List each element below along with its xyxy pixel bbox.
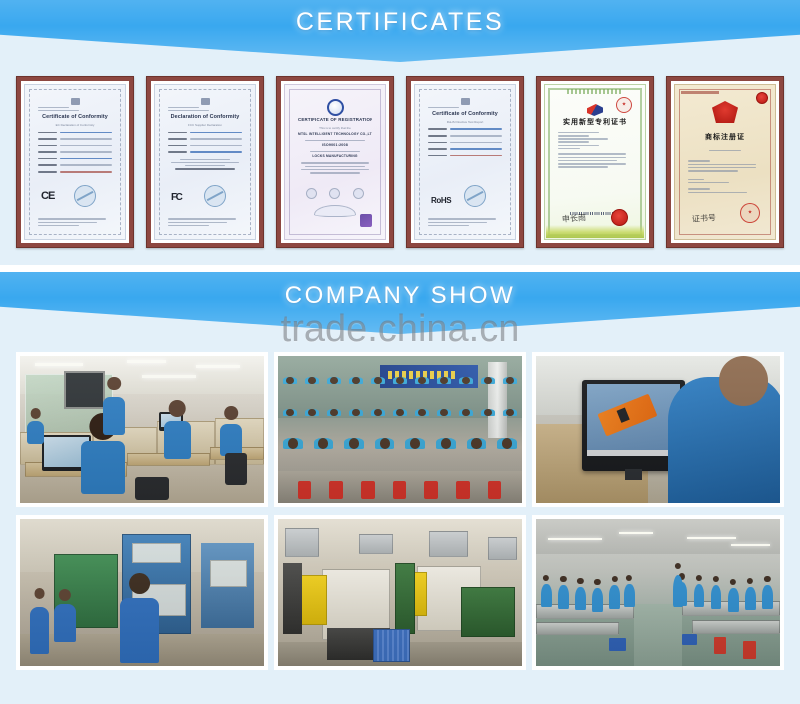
certificate-card-1[interactable]: Certificate of Conformity EC Declaration… [16, 76, 134, 248]
certificates-banner-title: CERTIFICATES [0, 8, 800, 37]
certificate-mat: CERTIFICATE OF REGISTRATION This is to c… [281, 81, 389, 243]
certificate-mat: 商标注册证 证书号 [671, 81, 779, 243]
certificate-paper: 商标注册证 证书号 [674, 84, 776, 240]
issuer-line [428, 107, 459, 109]
signature: 证书号 [692, 212, 717, 226]
issuer-line [38, 110, 79, 112]
certificate-footer [428, 217, 502, 228]
registrar-logo-icon [327, 99, 344, 116]
certificate-title: Certificate of Conformity [428, 110, 502, 118]
signature-swoosh-icon [314, 205, 356, 217]
certificate-card-6[interactable]: 商标注册证 证书号 [666, 76, 784, 248]
issuer-line [168, 107, 199, 109]
certificate-title: CERTIFICATE OF REGISTRATION [298, 117, 372, 124]
certificate-title: 实用新型专利证书 [558, 117, 632, 128]
certificate-paper: Certificate of Conformity RoHS Directive… [414, 84, 516, 240]
fcc-mark-icon: FC [171, 190, 181, 206]
photo-office-workstations[interactable] [16, 352, 268, 507]
accreditation-badges [300, 188, 370, 199]
certificate-footer [168, 217, 242, 228]
certificate-subtitle: RoHS Directive Test Report [428, 120, 502, 125]
certificate-subtitle: FCC Supplier Declaration [168, 123, 242, 128]
issuer-line [38, 107, 69, 109]
certificate-title: 商标注册证 [688, 132, 762, 143]
certificate-paper: 实用新型专利证书 [544, 84, 646, 240]
certified-scope: LOCKS MANUFACTURING [298, 154, 372, 159]
issuer-line [168, 110, 209, 112]
certificate-paper: Certificate of Conformity EC Declaration… [24, 84, 126, 240]
certificates-section: CERTIFICATES Certificate of Conformity E… [0, 0, 800, 265]
certificate-title: Certificate of Conformity [38, 113, 112, 121]
certificate-mat: Declaration of Conformity FCC Supplier D… [151, 81, 259, 243]
photo-image [536, 519, 780, 666]
certificate-title: Declaration of Conformity [168, 113, 242, 121]
national-emblem-icon [611, 209, 628, 226]
certificate-paper: Declaration of Conformity FCC Supplier D… [154, 84, 256, 240]
photo-image [278, 519, 522, 666]
photo-image [278, 356, 522, 503]
photo-image [20, 356, 264, 503]
patent-stamp-icon [616, 97, 632, 113]
photo-image [20, 519, 264, 666]
signature: 申长雨 [562, 212, 587, 226]
patent-office-logo-icon [587, 104, 603, 116]
certificate-paper: CERTIFICATE OF REGISTRATION This is to c… [284, 84, 386, 240]
certificate-subtitle: EC Declaration of Conformity [38, 123, 112, 128]
wheelie-bin-icon [204, 185, 226, 207]
company-show-banner-title: COMPANY SHOW [0, 282, 800, 310]
accreditation-badge-icon [353, 188, 364, 199]
certificate-footer [38, 217, 112, 228]
photo-team-group[interactable] [274, 352, 526, 507]
issuer-logo-icon [461, 98, 470, 105]
certificate-subtitle: This is to certify that the [298, 126, 372, 131]
photo-assembly-line[interactable] [532, 515, 784, 670]
certificate-card-4[interactable]: Certificate of Conformity RoHS Directive… [406, 76, 524, 248]
certificate-mat: Certificate of Conformity EC Declaration… [21, 81, 129, 243]
certificate-card-2[interactable]: Declaration of Conformity FCC Supplier D… [146, 76, 264, 248]
photo-image [536, 356, 780, 503]
certificate-mat: 实用新型专利证书 [541, 81, 649, 243]
certificate-card-5[interactable]: 实用新型专利证书 [536, 76, 654, 248]
wheelie-bin-icon [464, 185, 486, 207]
wheelie-bin-icon [74, 185, 96, 207]
issuer-logo-icon [71, 98, 80, 105]
company-show-section: COMPANY SHOW [0, 272, 800, 704]
certificates-grid: Certificate of Conformity EC Declaration… [16, 76, 784, 248]
accreditation-badge-icon [306, 188, 317, 199]
company-photo-grid [16, 352, 784, 670]
company-show-banner: COMPANY SHOW [0, 272, 800, 334]
certificate-mat: Certificate of Conformity RoHS Directive… [411, 81, 519, 243]
certified-standard: ISO9001:2008 [298, 143, 372, 149]
rohs-mark-icon: RoHS [431, 195, 451, 207]
registrar-seal-icon [360, 214, 372, 227]
certified-company-name: MTSL INTELLIGENT TECHNOLOGY CO.,LTD [298, 132, 372, 137]
accreditation-badge-icon [329, 188, 340, 199]
photo-cad-design[interactable] [532, 352, 784, 507]
certificates-banner: CERTIFICATES [0, 0, 800, 62]
page-root: CERTIFICATES Certificate of Conformity E… [0, 0, 800, 704]
ce-mark-icon: CE [41, 188, 54, 205]
certificate-card-3[interactable]: CERTIFICATE OF REGISTRATION This is to c… [276, 76, 394, 248]
registration-stamp-icon [740, 203, 760, 223]
photo-cnc-workshop[interactable] [16, 515, 268, 670]
photo-injection-molding[interactable] [274, 515, 526, 670]
issuer-logo-icon [201, 98, 210, 105]
